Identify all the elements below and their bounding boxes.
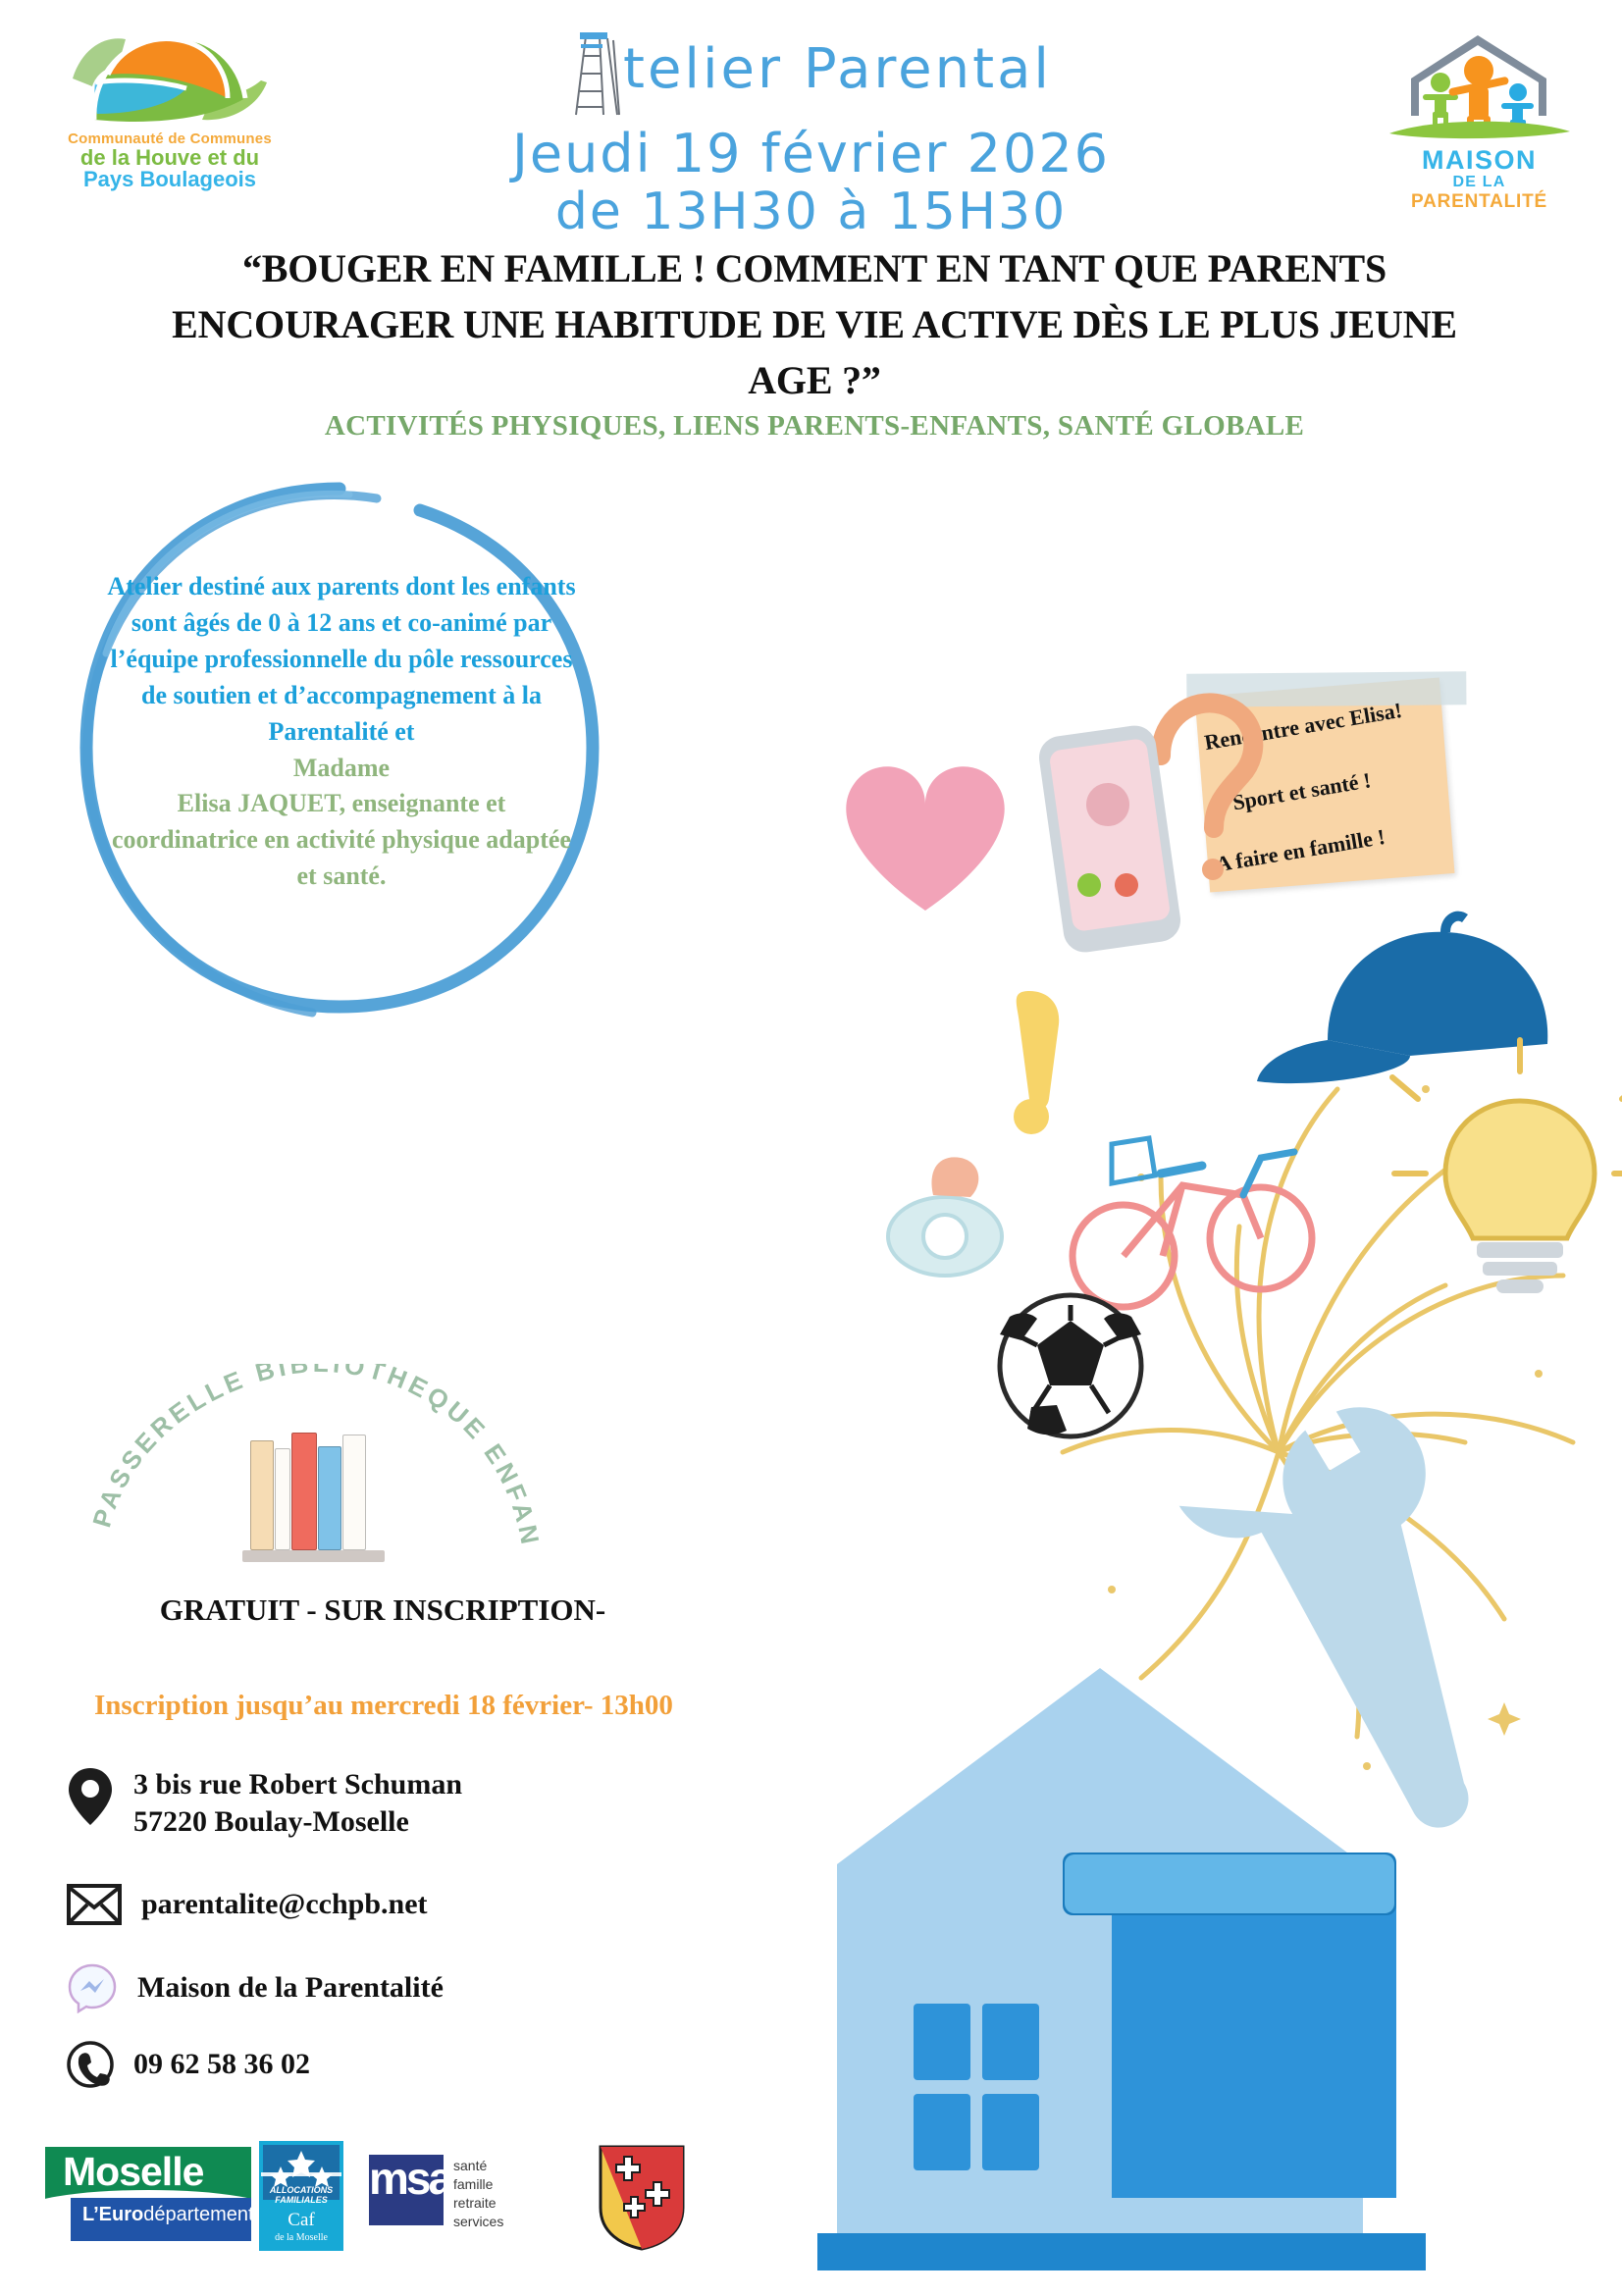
inscription-deadline: Inscription jusqu’au mercredi 18 février… <box>94 1690 673 1722</box>
smartphone-icon <box>1036 723 1183 956</box>
msa-mark: msa <box>369 2155 444 2225</box>
contact-phone[interactable]: 09 62 58 36 02 <box>67 2041 310 2088</box>
poster-title-text: telier Parental <box>623 37 1052 101</box>
contact-email-text: parentalite@cchpb.net <box>141 1886 428 1923</box>
books-icon <box>250 1425 373 1562</box>
event-subtitle: ACTIVITÉS PHYSIQUES, LIENS PARENTS-ENFAN… <box>98 410 1531 443</box>
description-circle: Atelier destiné aux parents dont les enf… <box>45 461 634 1050</box>
caf-logo: ALLOCATIONS FAMILIALES Caf de la Moselle <box>259 2141 343 2251</box>
ladder-icon <box>570 42 623 99</box>
sticky-note-line2: Sport et santé ! <box>1230 767 1373 815</box>
contact-messenger[interactable]: Maison de la Parentalité <box>67 1962 444 2013</box>
caf-line3: de la Moselle <box>259 2232 343 2243</box>
envelope-icon <box>67 1884 122 1925</box>
event-date: Jeudi 19 février 2026 <box>0 126 1622 182</box>
caf-line1: ALLOCATIONS FAMILIALES <box>259 2186 343 2206</box>
sticky-note: Rencontre avec Elisa! Sport et santé ! A… <box>1195 678 1455 893</box>
address-line2: 57220 Boulay-Moselle <box>133 1803 462 1841</box>
exclamation-icon <box>1014 991 1059 1134</box>
contact-address-text: 3 bis rue Robert Schuman 57220 Boulay-Mo… <box>133 1766 462 1841</box>
description-text: Atelier destiné aux parents dont les enf… <box>106 569 577 895</box>
moselle-logo-sub: L’Eurodépartement <box>82 2204 254 2226</box>
phone-icon <box>67 2041 114 2088</box>
description-green-2: Elisa JAQUET, enseignante et coordinatri… <box>106 786 577 895</box>
description-green-1: Madame <box>106 751 577 787</box>
contact-messenger-text: Maison de la Parentalité <box>137 1969 444 2007</box>
gratuit-notice: GRATUIT - SUR INSCRIPTION- <box>59 1592 706 1628</box>
lightbulb-icon <box>1392 1040 1622 1293</box>
msa-mark-text: msa <box>369 2159 444 2199</box>
msa-services-text: santé famille retraite services <box>453 2157 503 2231</box>
messenger-icon <box>67 1962 118 2013</box>
wrench-icon <box>1119 1369 1555 1834</box>
description-blue: Atelier destiné aux parents dont les enf… <box>107 572 575 746</box>
contact-address: 3 bis rue Robert Schuman 57220 Boulay-Mo… <box>67 1766 462 1841</box>
msa-logo: msa santé famille retraite services <box>369 2155 555 2241</box>
location-pin-icon <box>67 1766 114 1827</box>
passerelle-bibliotheque-logo: PASSERELLE BIBLIOTHEQUE ENFANTS <box>78 1364 549 1599</box>
event-headline: “BOUGER EN FAMILLE ! COMMENT EN TANT QUE… <box>137 241 1491 408</box>
caf-line2: Caf <box>259 2210 343 2231</box>
blason-icon <box>595 2143 689 2253</box>
house-icon <box>817 1668 1426 2270</box>
partner-logos: Moselle L’Eurodépartement ALLOCATIONS FA… <box>45 2147 791 2265</box>
moselle-logo-name: Moselle <box>63 2149 203 2195</box>
firework-icon <box>1063 1089 1573 1737</box>
sticky-note-line3: A faire en famille ! <box>1214 824 1387 877</box>
soccer-ball-icon <box>1000 1295 1141 1436</box>
contact-email[interactable]: parentalite@cchpb.net <box>67 1884 428 1925</box>
moselle-sub-rest: département <box>143 2204 253 2225</box>
address-line1: 3 bis rue Robert Schuman <box>133 1766 462 1803</box>
moselle-sub-bold: L’Euro <box>82 2204 143 2225</box>
pacifier-icon <box>888 1157 1002 1276</box>
bicycle-icon <box>1073 1138 1312 1307</box>
contact-phone-text: 09 62 58 36 02 <box>133 2046 310 2083</box>
cap-icon <box>1257 916 1547 1083</box>
sticky-note-tape <box>1186 671 1466 706</box>
poster-title: telier Parental <box>0 37 1622 101</box>
heart-icon <box>846 766 1004 911</box>
moselle-logo: Moselle L’Eurodépartement <box>45 2147 251 2241</box>
event-time: de 13H30 à 15H30 <box>0 183 1622 241</box>
